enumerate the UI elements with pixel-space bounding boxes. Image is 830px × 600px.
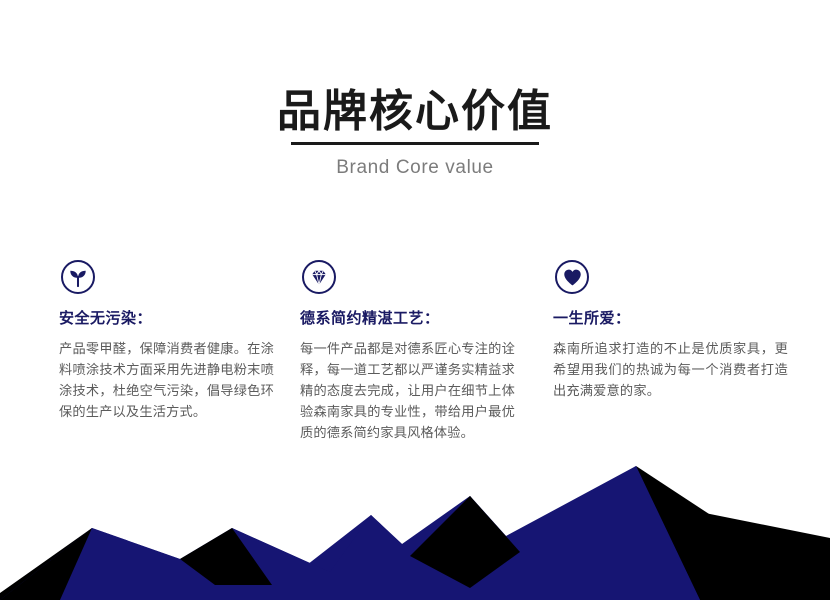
feature-column-craft: 德系简约精湛工艺： 每一件产品都是对德系匠心专注的诠释，每一道工艺都以严谨务实精… xyxy=(300,260,515,444)
feature-heading: 德系简约精湛工艺： xyxy=(300,308,515,328)
slide-canvas: 品牌核心价值 Brand Core value 安全无污染： 产品零甲醛，保障消… xyxy=(0,0,830,600)
feature-heading: 一生所爱： xyxy=(553,308,788,328)
feature-column-love: 一生所爱： 森南所追求打造的不止是优质家具，更希望用我们的热诚为每一个消费者打造… xyxy=(553,260,788,402)
header: 品牌核心价值 Brand Core value xyxy=(0,86,830,180)
feature-column-safety: 安全无污染： 产品零甲醛，保障消费者健康。在涂料喷涂技术方面采用先进静电粉末喷涂… xyxy=(59,260,274,423)
feature-body: 产品零甲醛，保障消费者健康。在涂料喷涂技术方面采用先进静电粉末喷涂技术，杜绝空气… xyxy=(59,339,274,423)
heart-icon xyxy=(555,260,589,294)
page-title: 品牌核心价值 xyxy=(0,86,830,138)
page-subtitle: Brand Core value xyxy=(0,156,830,180)
feature-body: 森南所追求打造的不止是优质家具，更希望用我们的热诚为每一个消费者打造出充满爱意的… xyxy=(553,339,788,402)
diamond-icon xyxy=(302,260,336,294)
sprout-icon xyxy=(61,260,95,294)
feature-body: 每一件产品都是对德系匠心专注的诠释，每一道工艺都以严谨务实精益求精的态度去完成，… xyxy=(300,339,515,444)
mountain-decoration xyxy=(0,460,830,600)
feature-columns: 安全无污染： 产品零甲醛，保障消费者健康。在涂料喷涂技术方面采用先进静电粉末喷涂… xyxy=(0,260,830,460)
feature-heading: 安全无污染： xyxy=(59,308,274,328)
title-divider xyxy=(291,142,539,145)
